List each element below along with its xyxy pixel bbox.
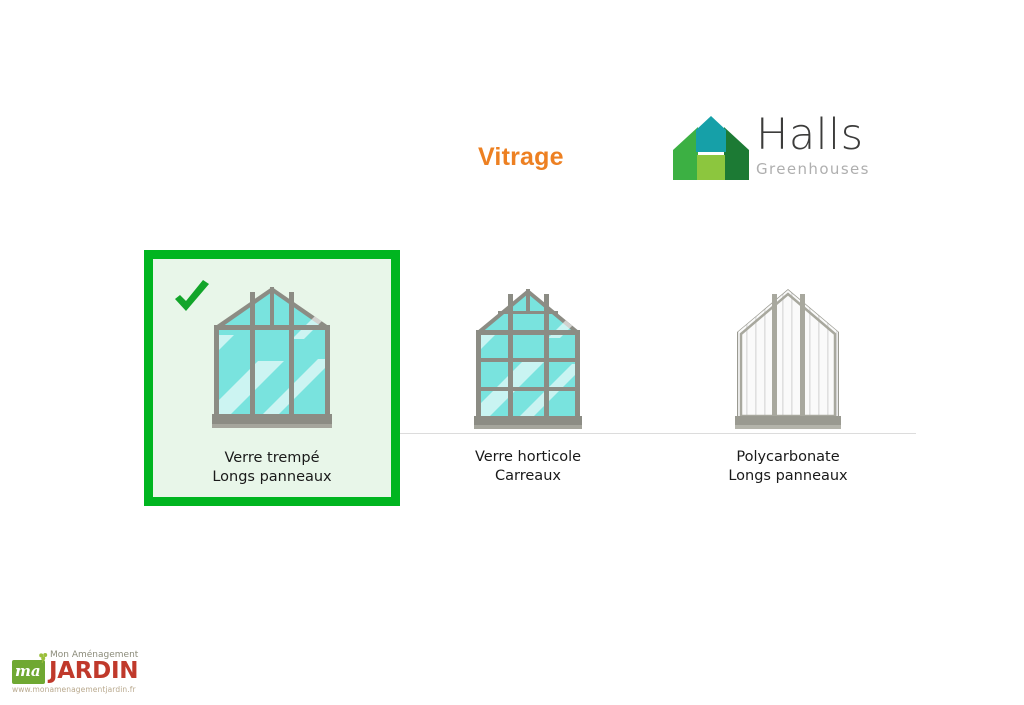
greenhouse-illustration-polycarbonate (660, 272, 916, 434)
halls-house-mark-icon (670, 112, 752, 184)
greenhouse-illustration-verre-trempe (153, 273, 391, 435)
page-title: Vitrage (478, 143, 564, 172)
caption-line-2: Longs panneaux (153, 468, 391, 487)
caption-line-1: Verre horticole (400, 448, 656, 467)
option-card-polycarbonate[interactable]: Polycarbonate Longs panneaux (660, 250, 916, 506)
caption-line-2: Longs panneaux (660, 467, 916, 486)
watermark-logo: ma Mon Aménagement JARDIN www.monamenage… (12, 650, 142, 694)
option-caption-verre-horticole: Verre horticole Carreaux (400, 448, 656, 486)
caption-line-2: Carreaux (400, 467, 656, 486)
watermark-badge: ma (12, 660, 45, 684)
greenhouse-illustration-verre-horticole (400, 272, 656, 434)
option-card-verre-horticole[interactable]: Verre horticole Carreaux (400, 250, 656, 506)
flower-icon (38, 650, 49, 661)
brand-logo: Halls Greenhouses (670, 112, 862, 190)
brand-name: Halls (756, 110, 866, 160)
watermark-badge-text: ma (15, 663, 41, 680)
option-caption-polycarbonate: Polycarbonate Longs panneaux (660, 448, 916, 486)
watermark-url: www.monamenagementjardin.fr (12, 685, 136, 694)
brand-tagline: Greenhouses (756, 160, 866, 178)
option-caption-verre-trempe: Verre trempé Longs panneaux (153, 449, 391, 487)
option-card-verre-trempe[interactable]: Verre trempé Longs panneaux (144, 250, 400, 506)
caption-line-1: Verre trempé (153, 449, 391, 468)
watermark-main-text: JARDIN (49, 659, 138, 684)
caption-line-1: Polycarbonate (660, 448, 916, 467)
